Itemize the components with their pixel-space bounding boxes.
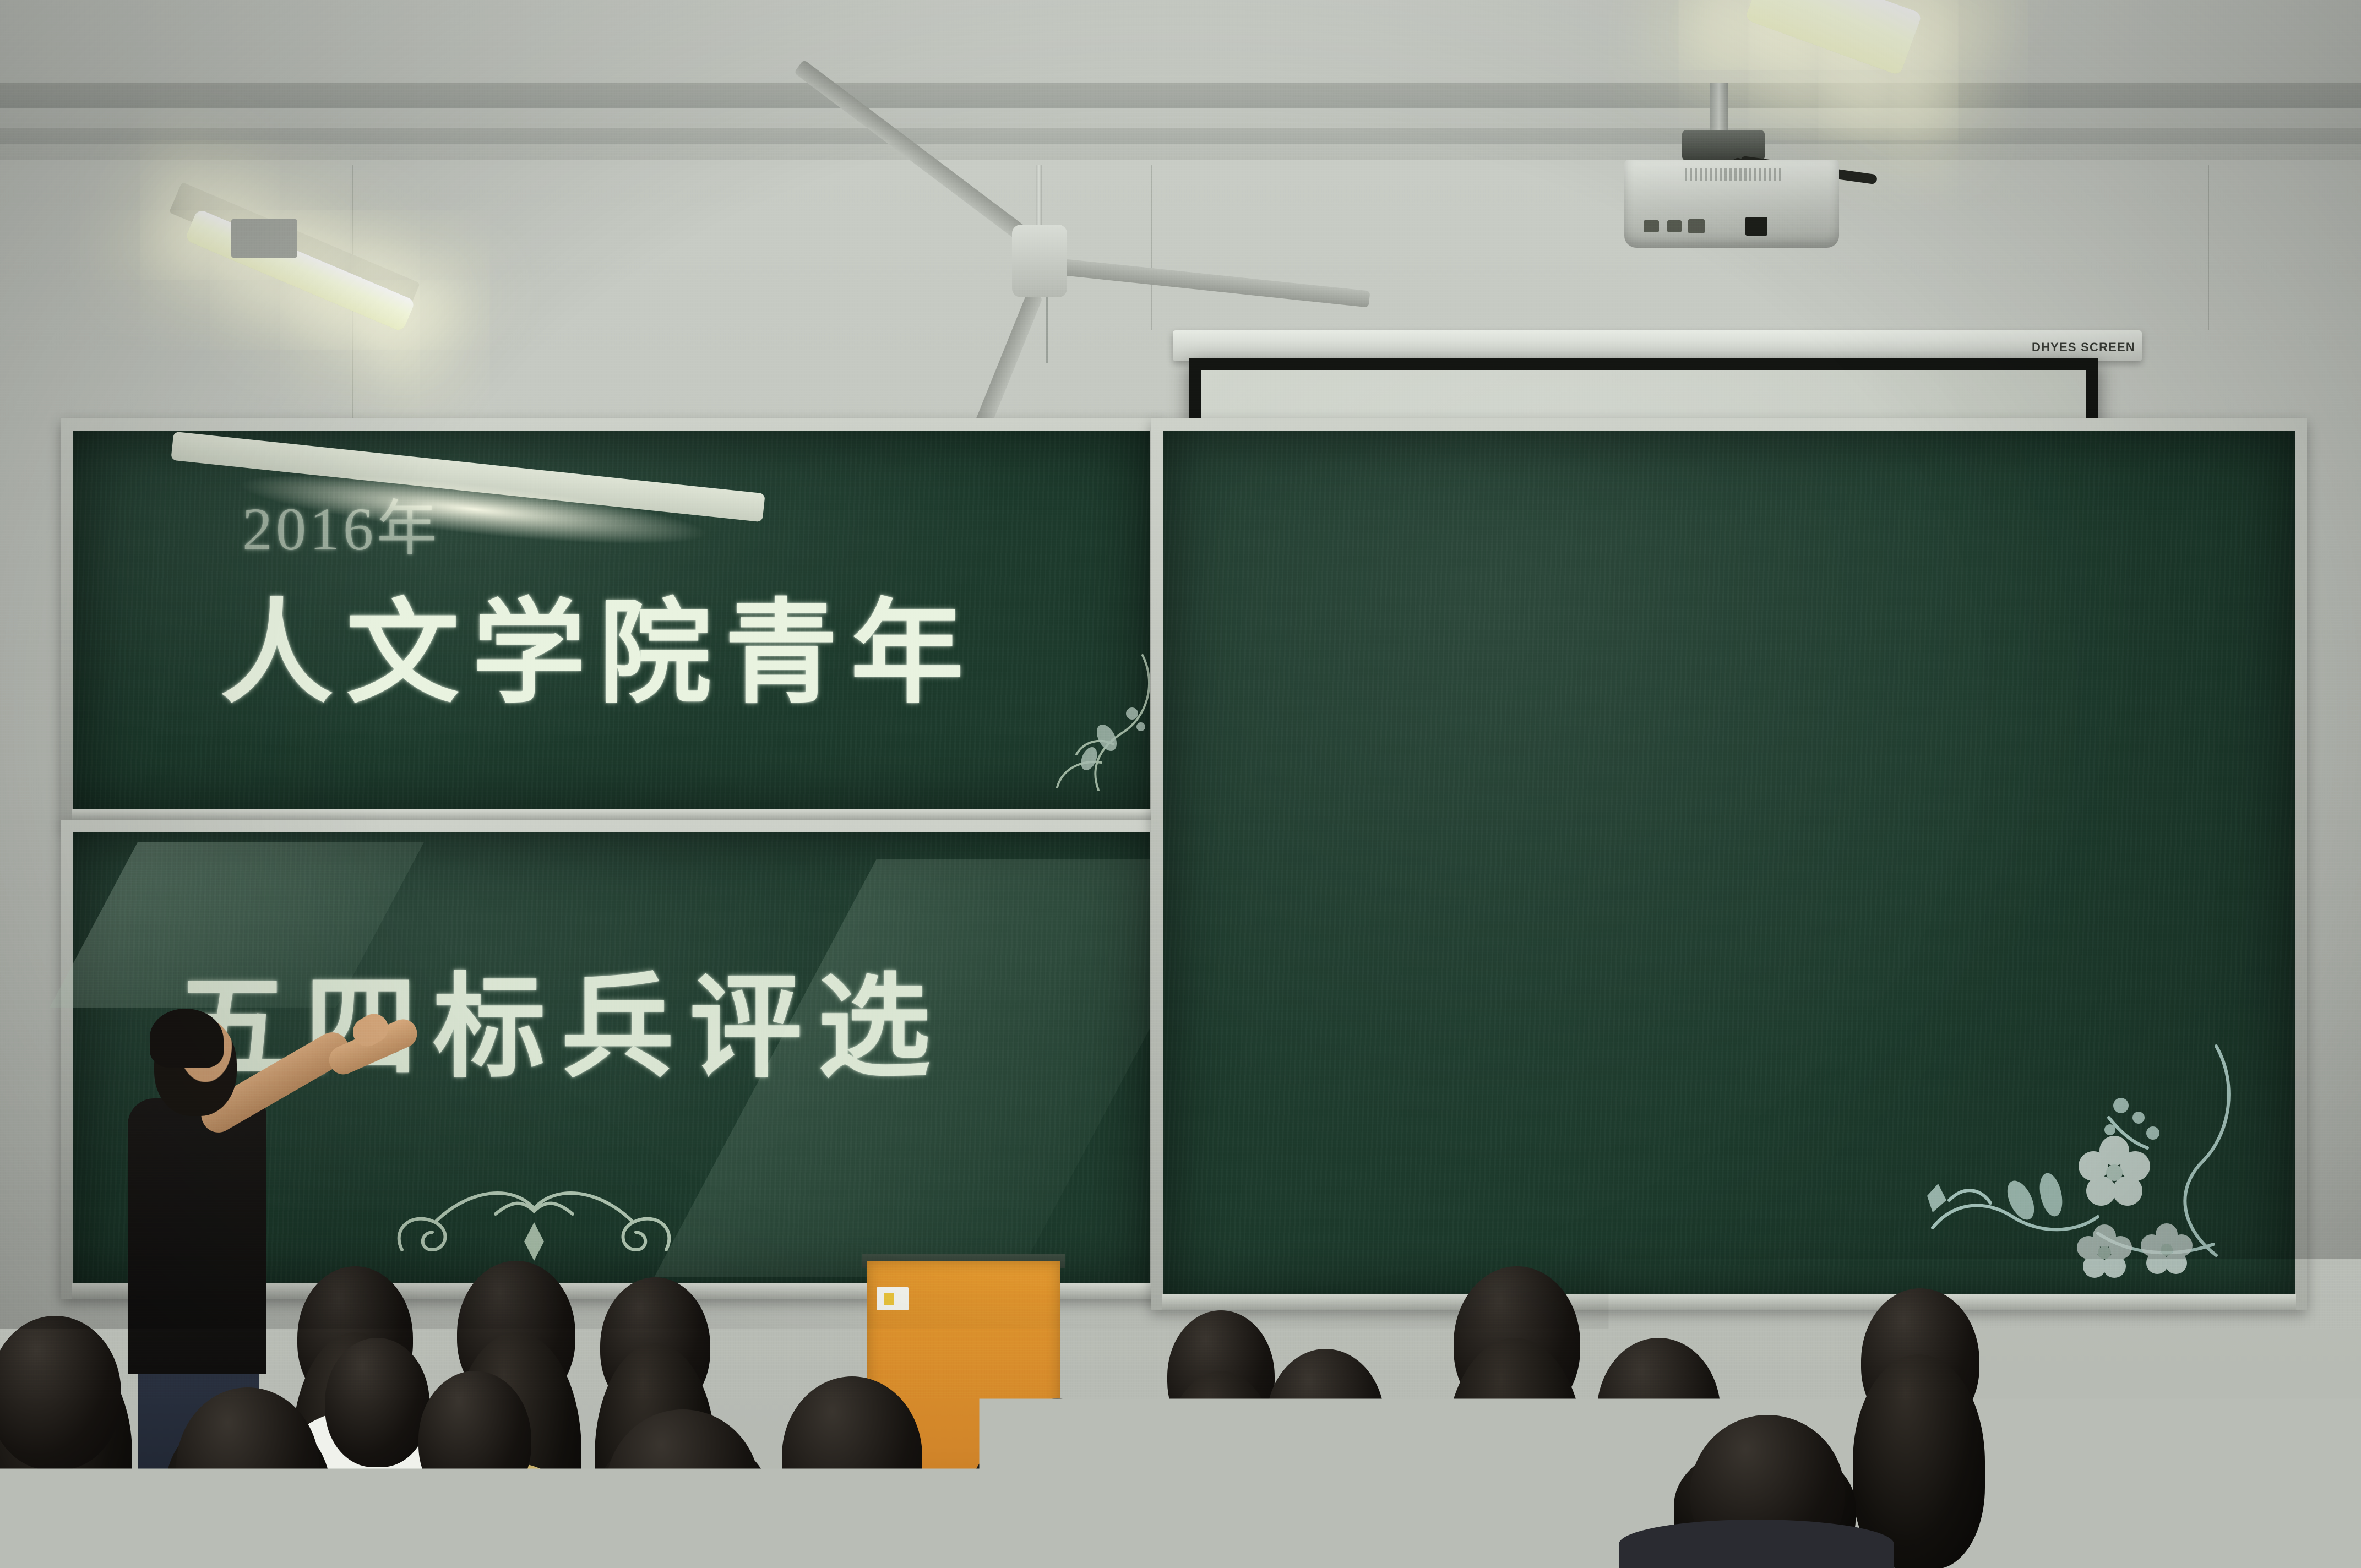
audience-head xyxy=(418,1371,531,1509)
audience-head xyxy=(1432,1426,1586,1568)
ceiling-fan-icon xyxy=(1012,225,1067,297)
ceiling-beam-secondary xyxy=(0,128,2361,144)
classroom-scene: DHYES SCREEN 我的收获 xyxy=(0,0,2361,1568)
desk-side xyxy=(2268,1464,2361,1568)
chalk-line-1: 人文学院青年 xyxy=(220,562,977,725)
projector-port xyxy=(1667,220,1682,232)
light-bracket xyxy=(231,219,297,258)
audience-head xyxy=(606,1409,760,1568)
audience-head xyxy=(325,1338,429,1467)
projector-vent xyxy=(1685,168,1784,181)
ceiling-beam xyxy=(0,83,2361,108)
blackboard-right-ledge xyxy=(1162,1294,2296,1310)
speaker-torso xyxy=(128,1098,266,1374)
desk-edge xyxy=(2136,1451,2330,1460)
podium-label xyxy=(877,1287,909,1310)
audience-head xyxy=(176,1387,319,1547)
speaker-hair xyxy=(150,1009,224,1068)
wall-seam xyxy=(2208,165,2209,330)
fan-rod xyxy=(1036,165,1042,230)
audience-head xyxy=(986,1398,1129,1564)
chalk-scroll-flourish-icon xyxy=(385,1167,683,1272)
projector-port xyxy=(1688,219,1705,233)
chalk-floral-vine-icon xyxy=(1024,650,1167,798)
audience-shoulders-dark xyxy=(1619,1520,1894,1568)
projector-bracket xyxy=(1682,130,1765,161)
wall-seam xyxy=(1151,165,1152,330)
projector-port xyxy=(1745,217,1767,236)
projector-port xyxy=(1644,220,1659,232)
audience-head xyxy=(782,1376,922,1536)
screen-brand-label: DHYES SCREEN xyxy=(2032,340,2135,355)
fan-pull-chain[interactable] xyxy=(1046,297,1048,363)
chalk-flower-cluster-icon xyxy=(1916,1035,2257,1294)
projection-screen-housing xyxy=(1173,330,2142,361)
